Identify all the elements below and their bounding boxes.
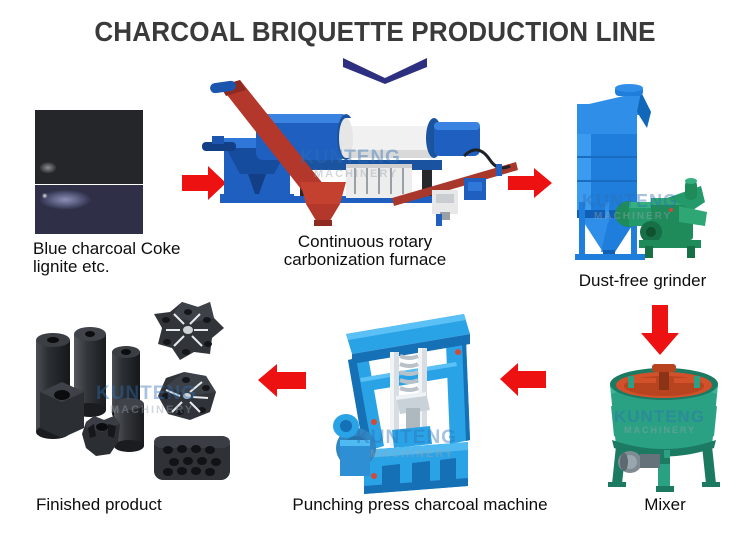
coal-chunks-photo	[35, 110, 143, 184]
carbonization-furnace-machine	[196, 78, 526, 228]
page-title: CHARCOAL BRIQUETTE PRODUCTION LINE	[26, 16, 724, 48]
production-line-infographic: CHARCOAL BRIQUETTE PRODUCTION LINE Blue …	[0, 0, 750, 536]
arrow-furnace-to-grinder	[508, 168, 552, 198]
arrow-mixer-to-press	[500, 363, 546, 396]
arrow-grinder-to-mixer	[641, 305, 679, 355]
caption-mixer: Mixer	[600, 496, 730, 514]
caption-dust-free-grinder: Dust-free grinder	[545, 272, 740, 290]
caption-carbonization-furnace: Continuous rotary carbonization furnace	[250, 233, 480, 269]
punching-press-machine	[330, 300, 490, 495]
caption-raw-material: Blue charcoal Coke lignite etc.	[33, 240, 233, 276]
finished-product-briquettes	[28, 296, 238, 486]
blue-charcoal-powder-photo	[35, 185, 143, 234]
caption-punching-press: Punching press charcoal machine	[255, 496, 585, 514]
caption-finished-product: Finished product	[36, 496, 256, 514]
arrow-press-to-product	[258, 364, 306, 397]
dust-free-grinder-machine	[555, 82, 730, 262]
mixer-machine	[594, 358, 734, 492]
